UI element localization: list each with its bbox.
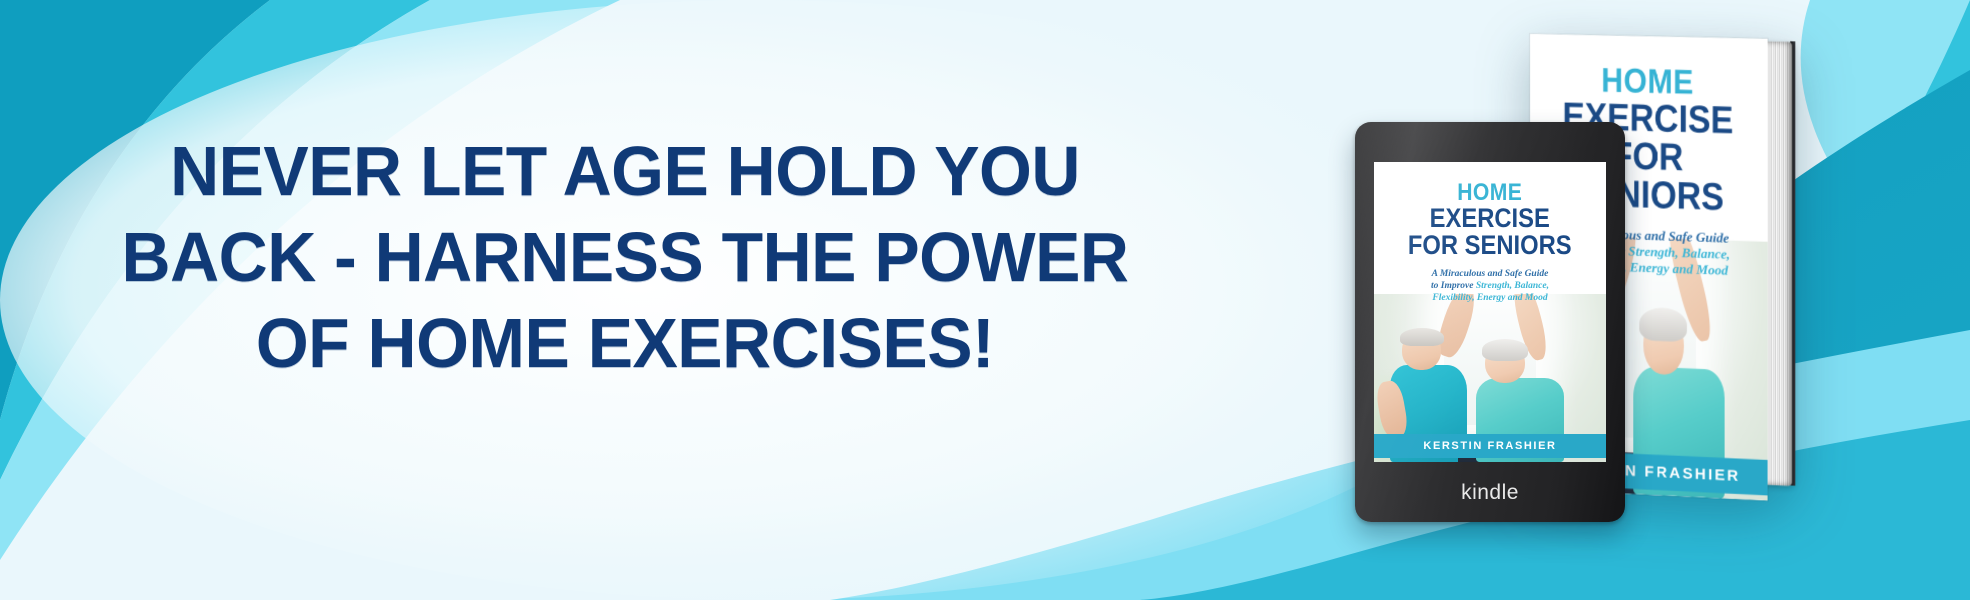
cover-title-home: HOME <box>1402 180 1578 205</box>
book-cover-artwork: HOME EXERCISE FOR SENIORS A Miraculous a… <box>1374 162 1606 462</box>
cover-subtitle: A Miraculous and Safe Guide to Improve S… <box>1390 268 1590 304</box>
cover-author-band: KERSTIN FRASHIER <box>1374 434 1606 458</box>
headline-line-2: BACK - HARNESS THE POWER <box>111 214 1139 300</box>
cover-title-for-seniors: FOR SENIORS <box>1402 232 1578 259</box>
cover-title-exercise: EXERCISE <box>1402 205 1578 232</box>
headline-block: NEVER LET AGE HOLD YOU BACK - HARNESS TH… <box>95 128 1155 386</box>
cover-subtitle-line-1: A Miraculous and Safe Guide <box>1432 269 1549 279</box>
kindle-wordmark: kindle <box>1355 481 1625 505</box>
cover-subtitle-line-3-highlight: Flexibility, Energy and Mood <box>1432 293 1547 303</box>
headline-line-3: OF HOME EXERCISES! <box>111 300 1139 386</box>
headline-line-1: NEVER LET AGE HOLD YOU <box>111 128 1139 214</box>
promo-banner: NEVER LET AGE HOLD YOU BACK - HARNESS TH… <box>0 0 1970 600</box>
cover-subtitle-line-2-plain: to Improve <box>1431 281 1476 291</box>
senior-woman-hair <box>1482 339 1528 361</box>
cover-subtitle-line-2-highlight: Strength, Balance, <box>1476 281 1549 291</box>
cover-title-block: HOME EXERCISE FOR SENIORS A Miraculous a… <box>1374 180 1606 304</box>
senior-man-hair <box>1400 328 1444 346</box>
kindle-screen: HOME EXERCISE FOR SENIORS A Miraculous a… <box>1374 162 1606 462</box>
kindle-device-mockup[interactable]: HOME EXERCISE FOR SENIORS A Miraculous a… <box>1355 122 1625 522</box>
product-mockups: HOME EXERCISE FOR SENIORS A Miraculous a… <box>1330 0 1970 600</box>
hardcover-page-edges <box>1763 41 1792 486</box>
